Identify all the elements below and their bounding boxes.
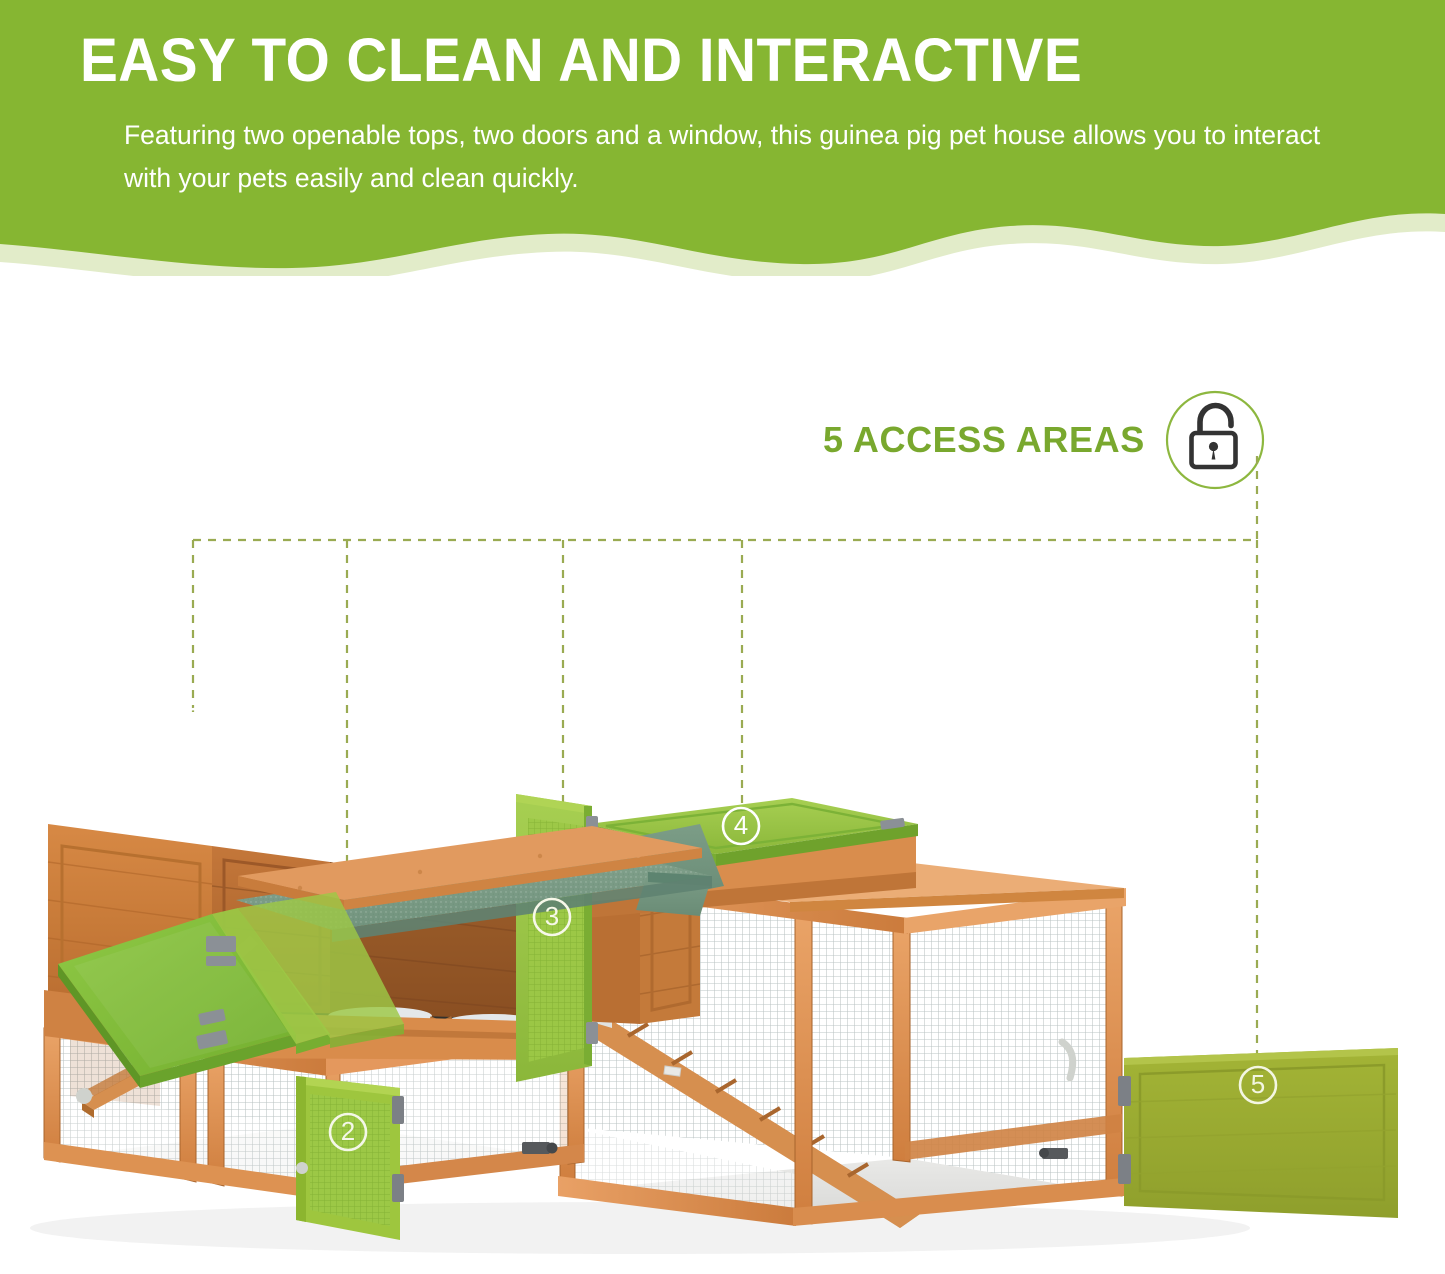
- callout-4-number: 4: [734, 810, 748, 840]
- product-illustration: 1 2 3 4 5: [0, 276, 1445, 1274]
- callout-2-number: 2: [341, 1116, 355, 1146]
- callout-1-number: 1: [188, 711, 202, 741]
- lower-run-latch: [522, 1142, 558, 1154]
- callout-5-number: 5: [1251, 1069, 1265, 1099]
- callout-1[interactable]: 1: [177, 709, 213, 745]
- lower-run-door-2[interactable]: [296, 1076, 404, 1240]
- run-latch: [1039, 1148, 1068, 1159]
- page-subtitle: Featuring two openable tops, two doors a…: [0, 92, 1354, 200]
- callout-3-number: 3: [545, 901, 559, 931]
- front-wall-hinge: [206, 936, 236, 966]
- banner-text-block: EASY TO CLEAN AND INTERACTIVE Featuring …: [0, 0, 1445, 200]
- ground-shadow: [30, 1202, 1250, 1254]
- page-title: EASY TO CLEAN AND INTERACTIVE: [0, 0, 1344, 92]
- header-banner: EASY TO CLEAN AND INTERACTIVE Featuring …: [0, 0, 1445, 276]
